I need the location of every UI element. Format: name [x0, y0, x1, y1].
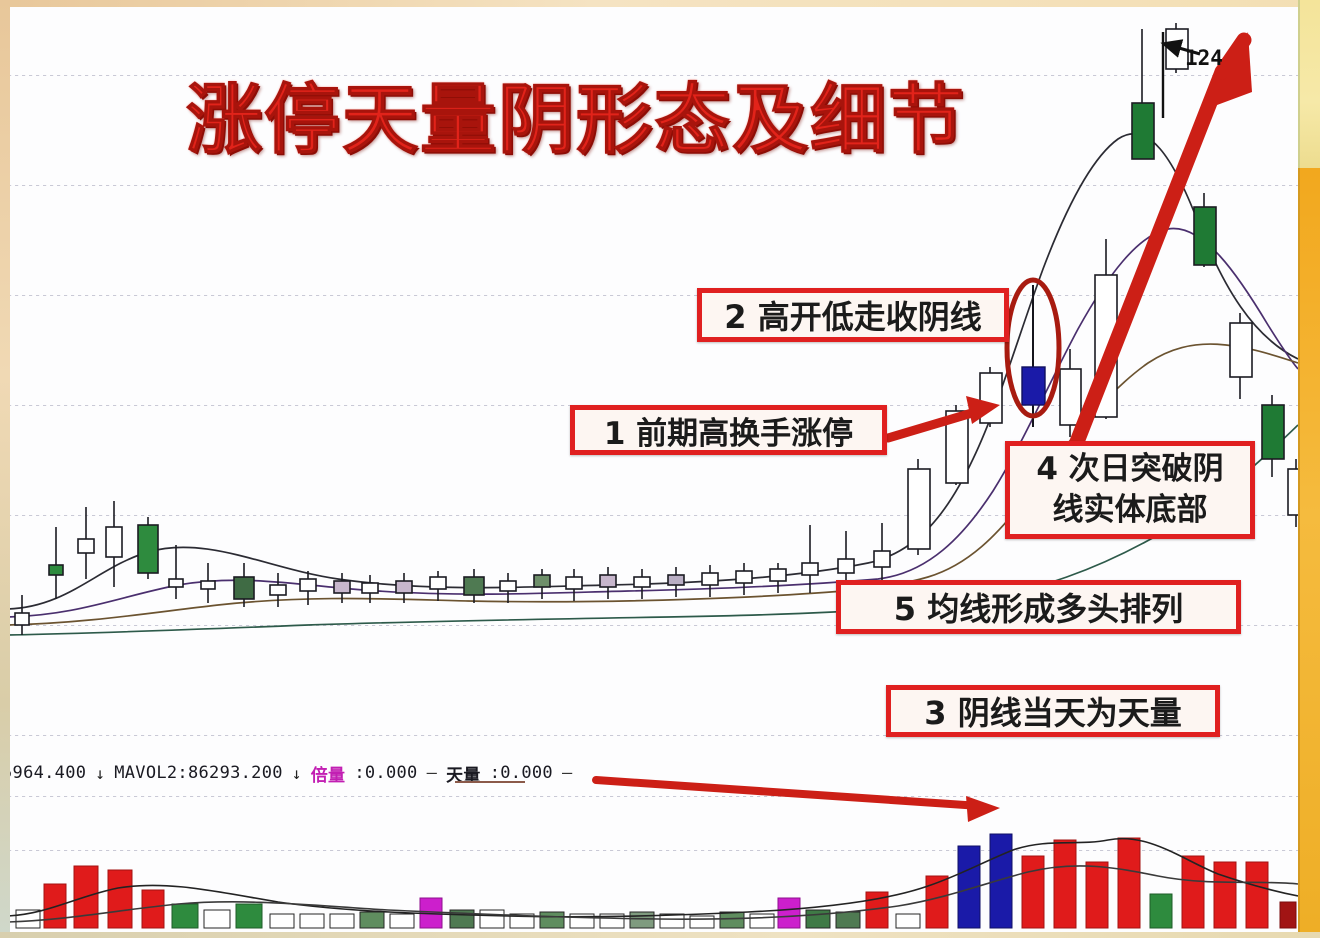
- candle: [1288, 459, 1298, 527]
- candle: [500, 573, 516, 603]
- mavol2-label: MAVOL2:86293.200: [114, 763, 283, 783]
- candle: [1194, 193, 1216, 267]
- status-value: 5964.400: [2, 763, 86, 783]
- status-underline: [455, 781, 525, 783]
- frame-left-border: [0, 0, 10, 938]
- candle: [49, 527, 63, 599]
- candle: [15, 595, 29, 635]
- candle: [169, 545, 183, 599]
- candle: [874, 523, 890, 585]
- annotation-5-line-1: 5 均线形成多头排列: [894, 584, 1183, 630]
- candle: [1132, 29, 1154, 159]
- candle: [634, 569, 650, 599]
- candle: [106, 501, 122, 587]
- annotation-1-line-1: 1 前期高换手涨停: [604, 408, 853, 453]
- frame-right-bottom-border: [1298, 168, 1320, 938]
- multiple-volume-label: 倍量: [311, 761, 346, 786]
- candle: [138, 517, 158, 579]
- candle: [534, 569, 550, 599]
- candle: [201, 563, 215, 603]
- screenshot-root: 涨停天量阴形态及细节 124 5964.400 ↓ MAVOL2:86293.2…: [0, 0, 1320, 938]
- volume-gridlines: [8, 796, 1298, 851]
- annotation-box-2: 2 高开低走收阴线: [697, 288, 1009, 342]
- page-title: 涨停天量阴形态及细节: [186, 58, 966, 168]
- annotation-4-line-2: 线实体底部: [1036, 490, 1223, 531]
- annotation-3-line-1: 3 阴线当天为天量: [924, 688, 1181, 734]
- frame-top-border: [0, 0, 1320, 7]
- candle: [1230, 313, 1252, 399]
- price-marker-label: 124: [1185, 46, 1223, 70]
- candle: [1060, 349, 1081, 437]
- separator-dash-2: –: [562, 763, 573, 783]
- candle: [702, 565, 718, 597]
- status-readout-bar: 5964.400 ↓ MAVOL2:86293.200 ↓ 倍量 :0.000 …: [0, 758, 1320, 788]
- annotation-box-5: 5 均线形成多头排列: [836, 580, 1241, 634]
- down-arrow-icon: ↓: [95, 764, 105, 783]
- multiple-volume-value: :0.000: [354, 763, 417, 783]
- annotation-box-4: 4 次日突破阴 线实体底部: [1005, 441, 1255, 539]
- candle: [1095, 239, 1117, 419]
- candle: [234, 563, 254, 607]
- candle: [430, 571, 446, 601]
- huge-volume-value: :0.000: [490, 763, 553, 783]
- candle: [600, 567, 616, 599]
- candle: [668, 567, 684, 597]
- volume-chart-svg: [8, 788, 1298, 934]
- volume-chart-panel: [8, 788, 1298, 934]
- candle: [736, 563, 752, 595]
- candle-limitup: [946, 405, 968, 485]
- candle: [78, 507, 94, 579]
- annotation-box-3: 3 阴线当天为天量: [886, 685, 1220, 737]
- candle-limitup: [980, 367, 1002, 427]
- frame-bottom-border: [0, 932, 1320, 938]
- candle: [270, 573, 286, 607]
- down-arrow-icon-2: ↓: [292, 764, 302, 783]
- annotation-box-1: 1 前期高换手涨停: [570, 405, 887, 455]
- annotation-2-line-1: 2 高开低走收阴线: [724, 292, 981, 338]
- candle: [566, 569, 582, 601]
- volume-bars: [16, 834, 1296, 928]
- frame-right-top-border: [1298, 0, 1320, 170]
- candle: [464, 569, 484, 603]
- candle-limitup: [908, 459, 930, 555]
- annotation-4-line-1: 4 次日突破阴: [1036, 449, 1223, 490]
- candle: [770, 563, 786, 593]
- separator-dash-1: –: [427, 763, 438, 783]
- candle: [1262, 395, 1284, 477]
